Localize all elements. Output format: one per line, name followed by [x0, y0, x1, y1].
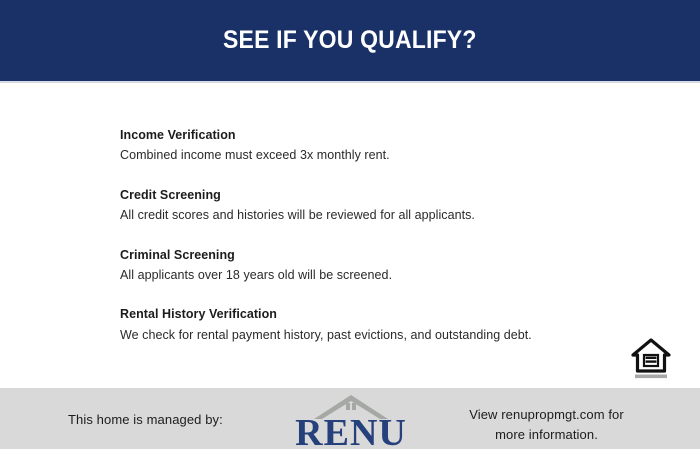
- qualification-flyer: SEE IF YOU QUALIFY? Income Verification …: [0, 0, 700, 449]
- equal-housing-opportunity-icon: [631, 338, 671, 380]
- managed-by-label: This home is managed by:: [68, 412, 223, 427]
- header-banner: SEE IF YOU QUALIFY?: [0, 0, 700, 81]
- criteria-item-criminal-screening: Criminal Screening All applicants over 1…: [120, 246, 640, 286]
- criteria-heading: Credit Screening: [120, 186, 640, 205]
- qualification-criteria-list: Income Verification Combined income must…: [120, 126, 640, 345]
- criteria-heading: Income Verification: [120, 126, 640, 145]
- view-info-line-2: more information.: [495, 427, 598, 442]
- view-more-information: View renupropmgt.com for more informatio…: [444, 405, 649, 445]
- criteria-description: Combined income must exceed 3x monthly r…: [120, 146, 640, 165]
- criteria-description: We check for rental payment history, pas…: [120, 326, 640, 345]
- criteria-heading: Criminal Screening: [120, 246, 640, 265]
- renu-wordmark: RENU: [283, 414, 419, 449]
- criteria-description: All credit scores and histories will be …: [120, 206, 640, 225]
- criteria-item-credit-screening: Credit Screening All credit scores and h…: [120, 186, 640, 226]
- renu-management-logo: RENU MANAGEMENT: [283, 394, 419, 449]
- page-title: SEE IF YOU QUALIFY?: [223, 28, 477, 53]
- header-divider: [0, 81, 700, 83]
- criteria-description: All applicants over 18 years old will be…: [120, 266, 640, 285]
- criteria-item-rental-history-verification: Rental History Verification We check for…: [120, 305, 640, 345]
- criteria-item-income-verification: Income Verification Combined income must…: [120, 126, 640, 166]
- view-info-line-1: View renupropmgt.com for: [469, 407, 624, 422]
- criteria-heading: Rental History Verification: [120, 305, 640, 324]
